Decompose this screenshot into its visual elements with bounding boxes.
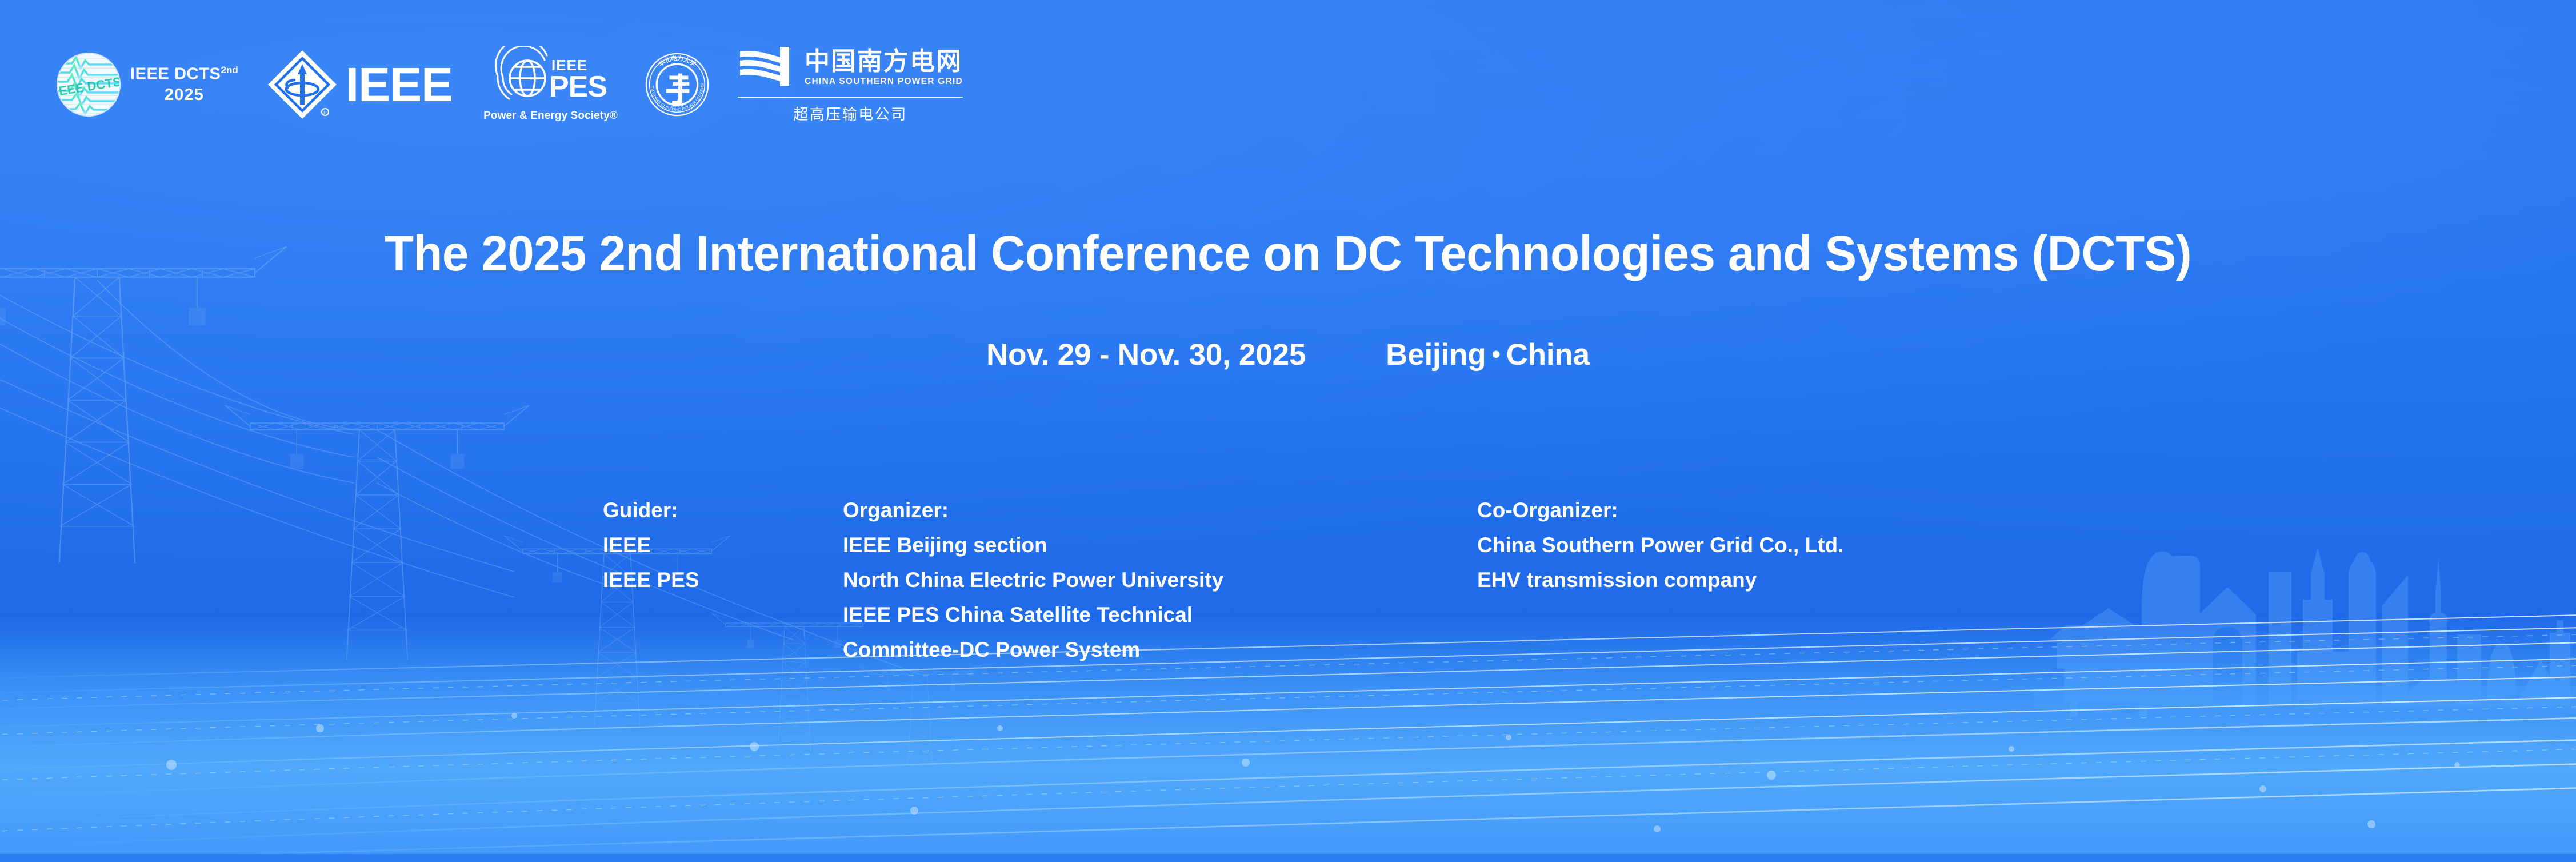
conference-location: Beijing•China — [1386, 337, 1590, 372]
co-organizer-item: China Southern Power Grid Co., Ltd. — [1477, 534, 1843, 556]
organizer-item: IEEE PES China Satellite Technical — [843, 604, 1477, 625]
co-organizer-item: EHV transmission company — [1477, 569, 1843, 590]
ncepu-seal-icon: 华北电力大学 NORTH CHINA ELECTRIC POWER UNIVER… — [644, 51, 710, 118]
logo-north-china-electric-power-university: 华北电力大学 NORTH CHINA ELECTRIC POWER UNIVER… — [644, 51, 710, 118]
conference-meta: Nov. 29 - Nov. 30, 2025 Beijing•China — [0, 337, 2576, 372]
organizer-item: North China Electric Power University — [843, 569, 1477, 590]
svg-text:PES: PES — [549, 70, 607, 103]
svg-text:1958: 1958 — [671, 102, 683, 108]
conference-dates: Nov. 29 - Nov. 30, 2025 — [986, 337, 1306, 372]
csg-chinese-name: 中国南方电网 — [805, 49, 963, 74]
pes-caption: Power & Energy Society® — [483, 110, 618, 122]
location-city: Beijing — [1386, 338, 1486, 372]
organizer-item: IEEE Beijing section — [843, 534, 1477, 556]
organizer-item: Committee-DC Power System — [843, 639, 1477, 660]
guider-heading: Guider: — [603, 500, 843, 521]
credits-block: Guider: IEEE IEEE PES Organizer: IEEE Be… — [603, 500, 2507, 674]
csg-english-name: CHINA SOUTHERN POWER GRID — [805, 77, 963, 86]
credits-guider-column: Guider: IEEE IEEE PES — [603, 500, 843, 604]
location-country: China — [1506, 338, 1590, 372]
credits-organizer-column: Organizer: IEEE Beijing section North Ch… — [843, 500, 1477, 674]
csg-divider — [738, 97, 963, 98]
dcts-logo-line1: IEEE DCTS2nd — [130, 65, 238, 83]
csg-subsidiary-name: 超高压输电公司 — [793, 103, 907, 124]
pes-globe-icon: IEEE PES — [492, 46, 610, 107]
ieee-diamond-icon: R — [266, 48, 339, 121]
globe-waveform-icon: IEEE DCTS — [55, 51, 122, 118]
location-separator: • — [1491, 340, 1500, 368]
logo-ieee-master-brand: R IEEE — [266, 48, 453, 121]
guider-item: IEEE PES — [603, 569, 843, 590]
csg-wave-bars-icon — [738, 45, 795, 90]
conference-title: The 2025 2nd International Conference on… — [51, 228, 2525, 280]
sponsor-logo-row: IEEE DCTS IEEE DCTS2nd 2025 — [55, 45, 963, 124]
co-organizer-heading: Co-Organizer: — [1477, 500, 1843, 521]
guider-item: IEEE — [603, 534, 843, 556]
logo-ieee-dcts-2025: IEEE DCTS IEEE DCTS2nd 2025 — [55, 51, 238, 118]
dcts-logo-year: 2025 — [165, 87, 204, 103]
conference-banner: IEEE DCTS IEEE DCTS2nd 2025 — [0, 0, 2576, 862]
ieee-wordmark: IEEE — [346, 61, 453, 109]
bottom-edge-bar — [0, 854, 2576, 862]
credits-co-organizer-column: Co-Organizer: China Southern Power Grid … — [1477, 500, 1843, 604]
logo-china-southern-power-grid: 中国南方电网 CHINA SOUTHERN POWER GRID 超高压输电公司 — [738, 45, 963, 124]
logo-ieee-pes: IEEE PES Power & Energy Society® — [483, 46, 618, 122]
organizer-heading: Organizer: — [843, 500, 1477, 521]
svg-text:R: R — [323, 110, 327, 115]
